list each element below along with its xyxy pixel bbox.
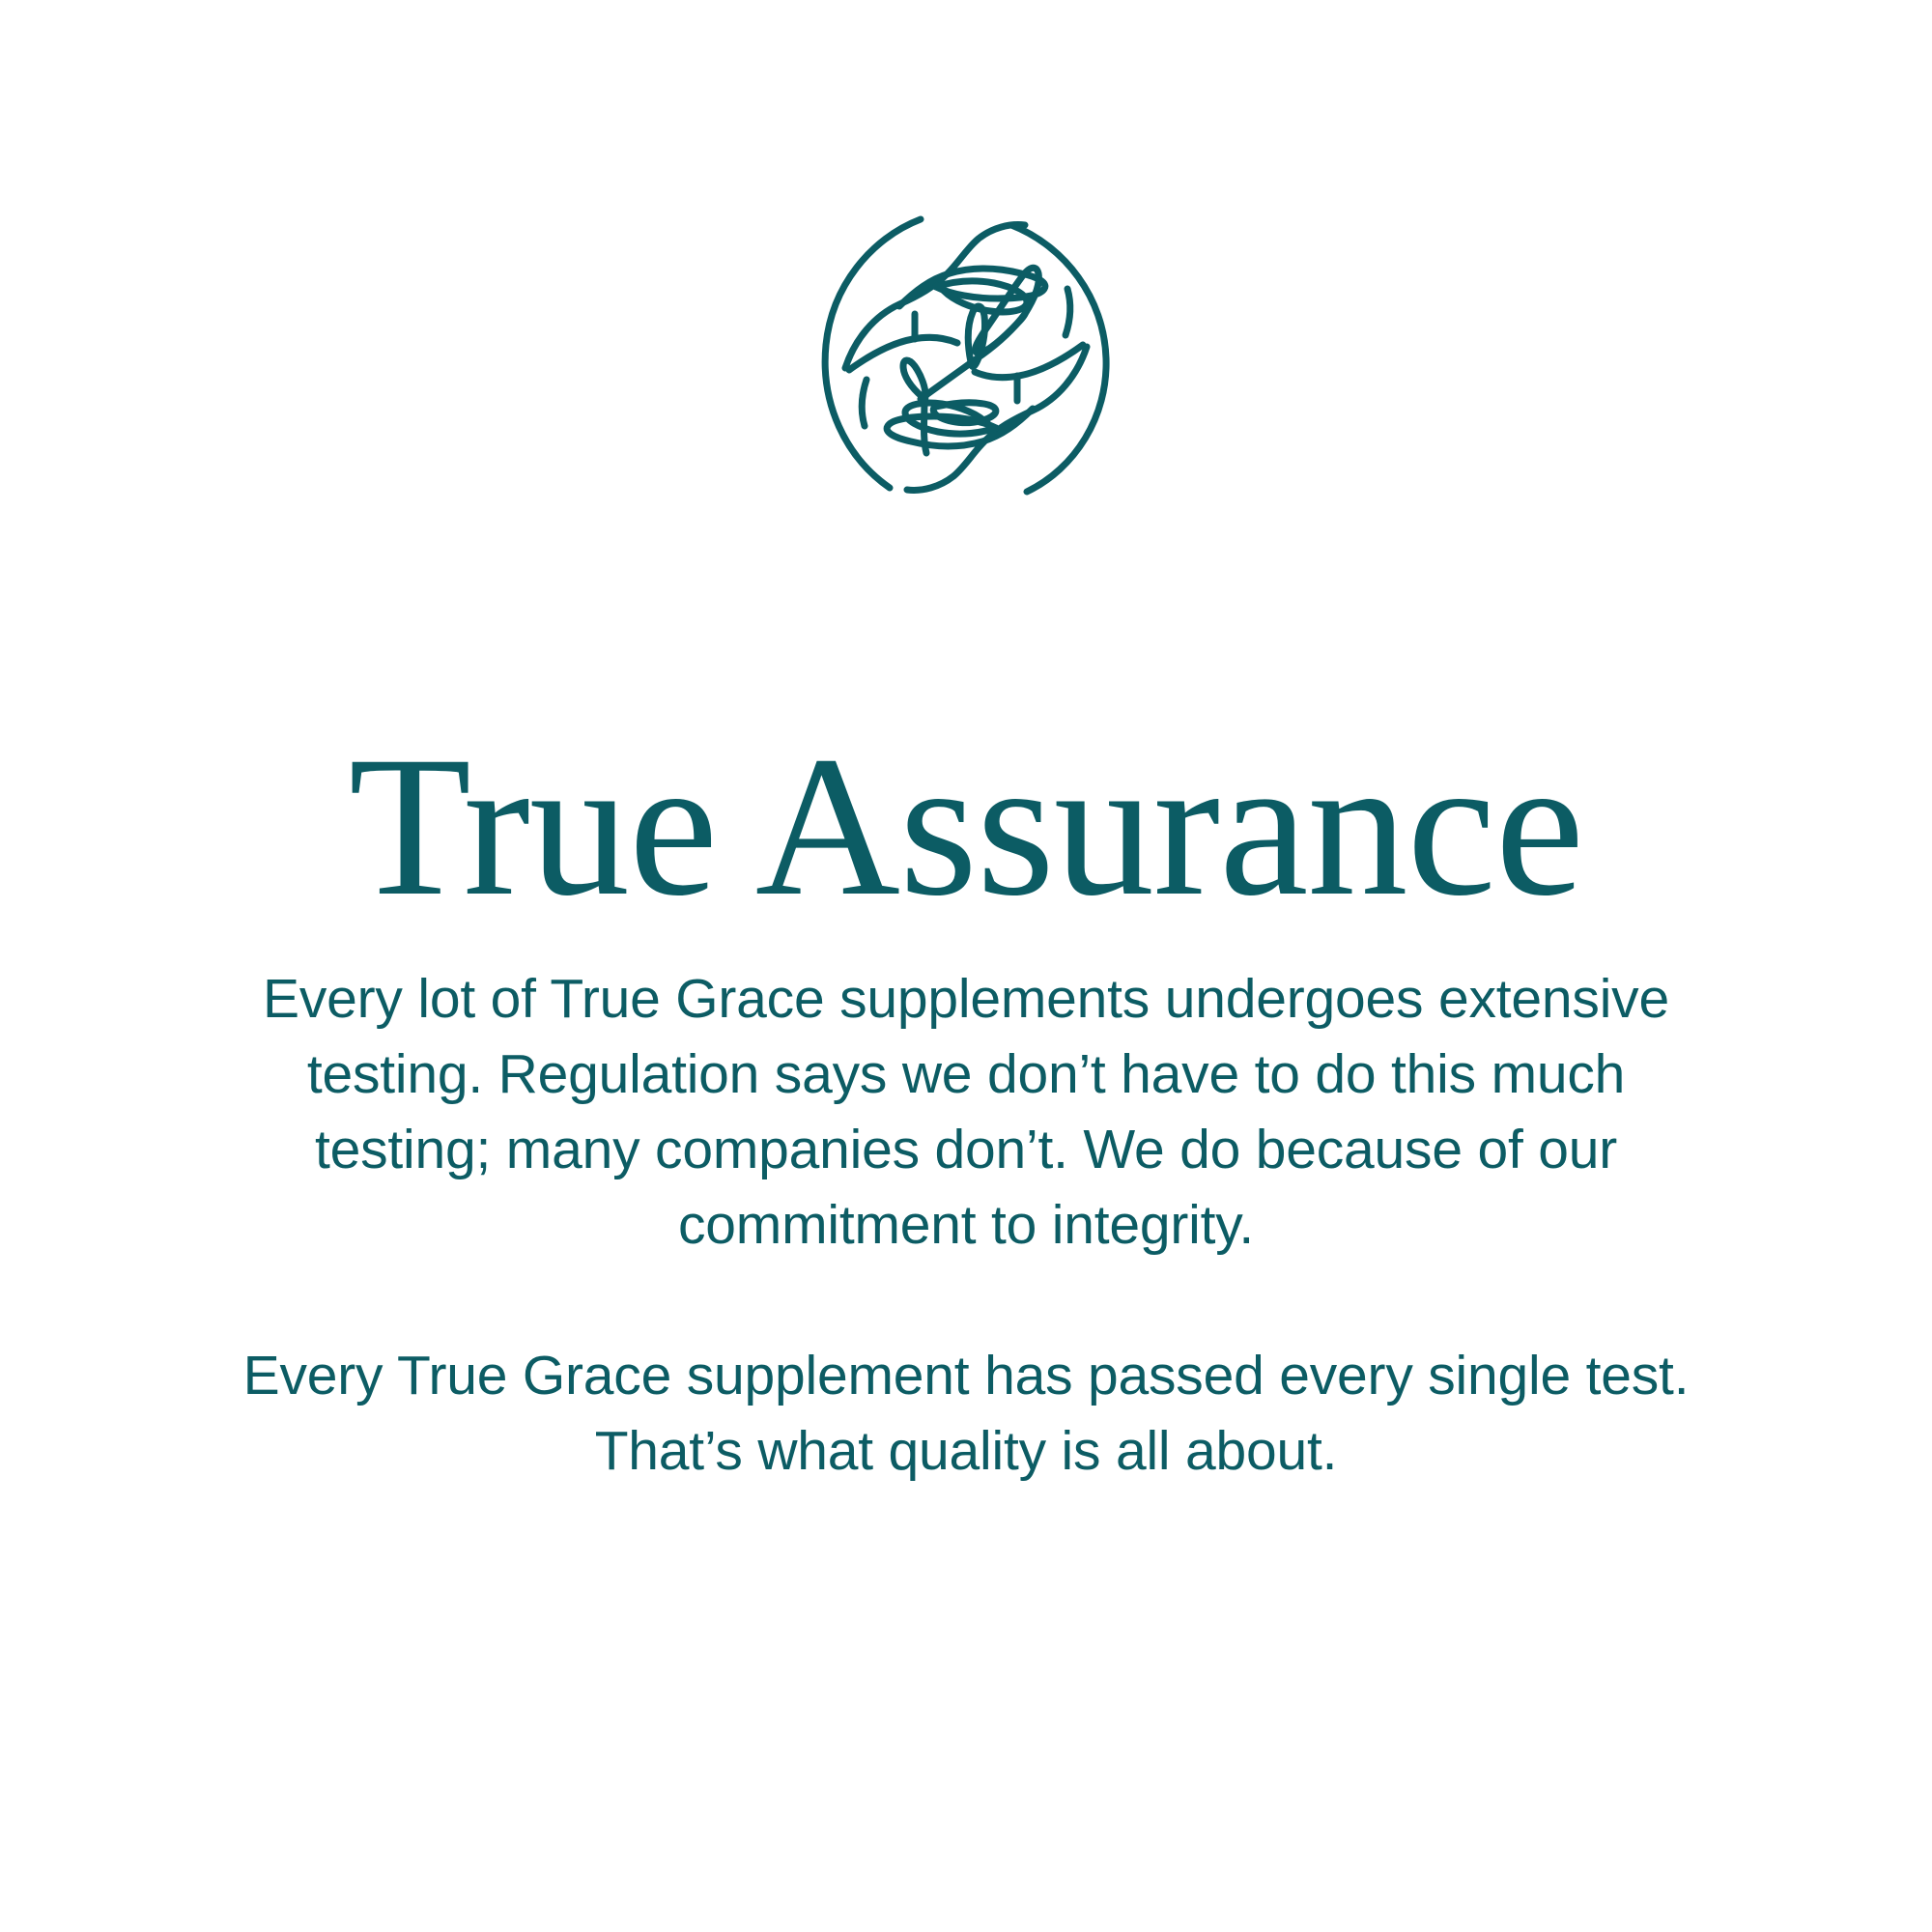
page-title: True Assurance bbox=[0, 725, 1932, 926]
brand-logo bbox=[807, 198, 1125, 517]
body-copy: Every lot of True Grace supplements unde… bbox=[213, 961, 1719, 1489]
body-paragraph-2: Every True Grace supplement has passed e… bbox=[213, 1338, 1719, 1489]
true-assurance-card: True Assurance Every lot of True Grace s… bbox=[0, 0, 1932, 1932]
body-paragraph-1: Every lot of True Grace supplements unde… bbox=[213, 961, 1719, 1263]
